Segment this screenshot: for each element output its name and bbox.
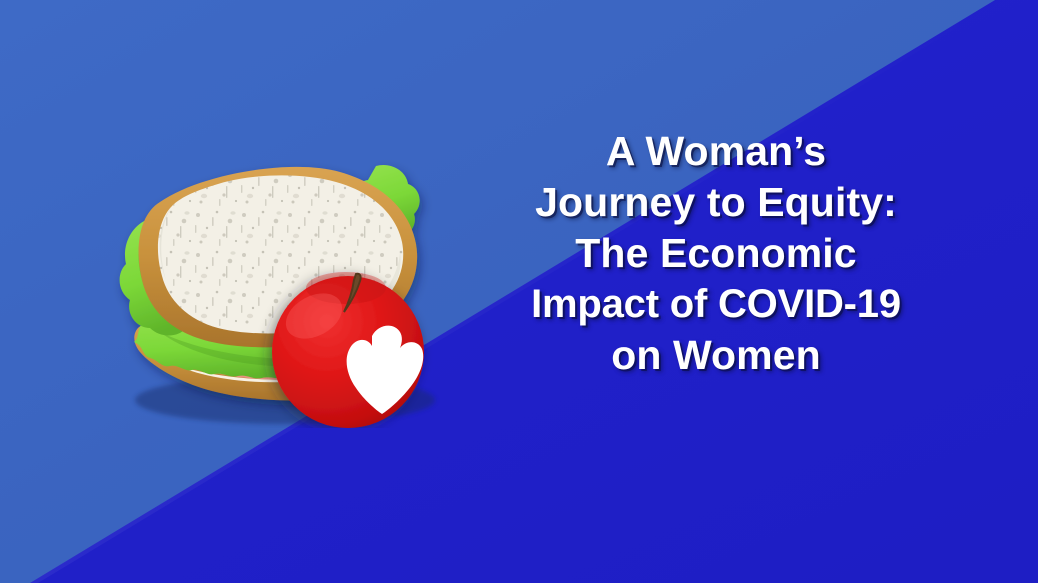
sandwich-illustration xyxy=(100,128,490,428)
sandwich-svg xyxy=(100,128,490,428)
title-line-2: Journey to Equity: xyxy=(466,177,966,228)
slide-title: A Woman’s Journey to Equity: The Economi… xyxy=(466,126,966,381)
title-line-4: Impact of COVID-19 xyxy=(466,279,966,330)
slide-canvas: A Woman’s Journey to Equity: The Economi… xyxy=(0,0,1038,583)
title-line-3: The Economic xyxy=(466,228,966,279)
title-line-1: A Woman’s xyxy=(466,126,966,177)
title-line-5: on Women xyxy=(466,330,966,381)
